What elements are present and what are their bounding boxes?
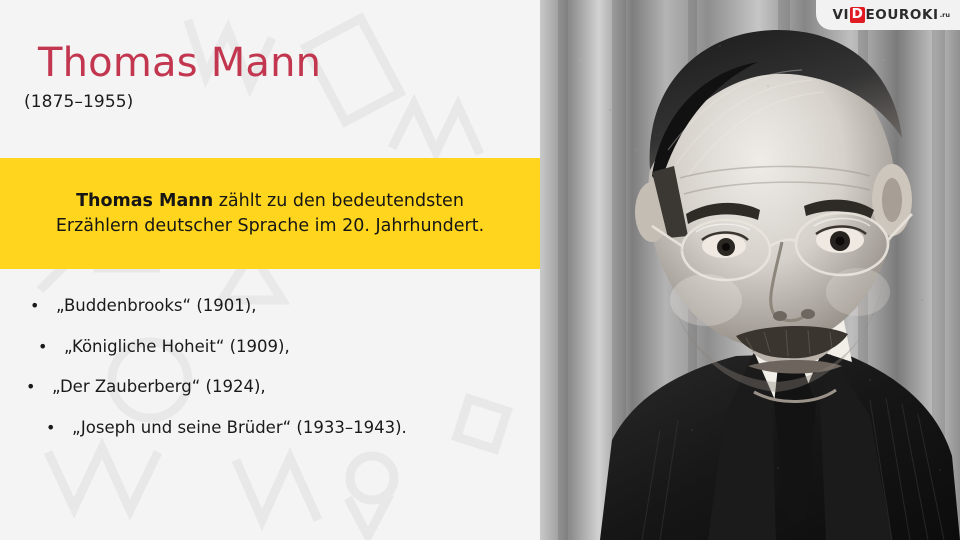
callout-lead: Thomas Mann bbox=[76, 191, 213, 211]
list-item: • „Buddenbrooks“ (1901), bbox=[0, 298, 540, 315]
works-list: • „Buddenbrooks“ (1901), • „Königliche H… bbox=[0, 298, 540, 460]
brand-tld: .ru bbox=[940, 11, 950, 19]
text-column: Thomas Mann (1875–1955) • „Buddenbrooks“… bbox=[0, 0, 540, 540]
life-dates-subtitle: (1875–1955) bbox=[24, 92, 133, 112]
brand-wordmark: VIDEOUROKI.ru bbox=[832, 7, 950, 23]
bullet-icon: • bbox=[46, 420, 72, 436]
thomas-mann-portrait bbox=[540, 0, 960, 540]
list-item: • „Joseph und seine Brüder“ (1933–1943). bbox=[0, 420, 540, 437]
slide-canvas: Thomas Mann (1875–1955) • „Buddenbrooks“… bbox=[0, 0, 960, 540]
page-title: Thomas Mann bbox=[38, 42, 321, 84]
highlight-callout-band: Thomas Mann zählt zu den bedeutendsten E… bbox=[0, 158, 540, 269]
list-item-label: „Joseph und seine Brüder“ (1933–1943). bbox=[72, 420, 407, 437]
bullet-icon: • bbox=[30, 298, 56, 314]
videouroki-logo: VIDEOUROKI.ru bbox=[816, 0, 960, 30]
portrait-image bbox=[540, 0, 960, 540]
list-item-label: „Königliche Hoheit“ (1909), bbox=[64, 339, 290, 356]
list-item-label: „Der Zauberberg“ (1924), bbox=[52, 379, 266, 396]
list-item: • „Der Zauberberg“ (1924), bbox=[0, 379, 540, 396]
bullet-icon: • bbox=[38, 339, 64, 355]
list-item: • „Königliche Hoheit“ (1909), bbox=[0, 339, 540, 356]
brand-part1: VI bbox=[832, 7, 849, 23]
callout-text: Thomas Mann zählt zu den bedeutendsten E… bbox=[55, 189, 485, 239]
brand-accent-letter: D bbox=[850, 7, 865, 23]
list-item-label: „Buddenbrooks“ (1901), bbox=[56, 298, 256, 315]
bullet-icon: • bbox=[26, 379, 52, 395]
brand-part2: EOUROKI bbox=[865, 7, 938, 23]
